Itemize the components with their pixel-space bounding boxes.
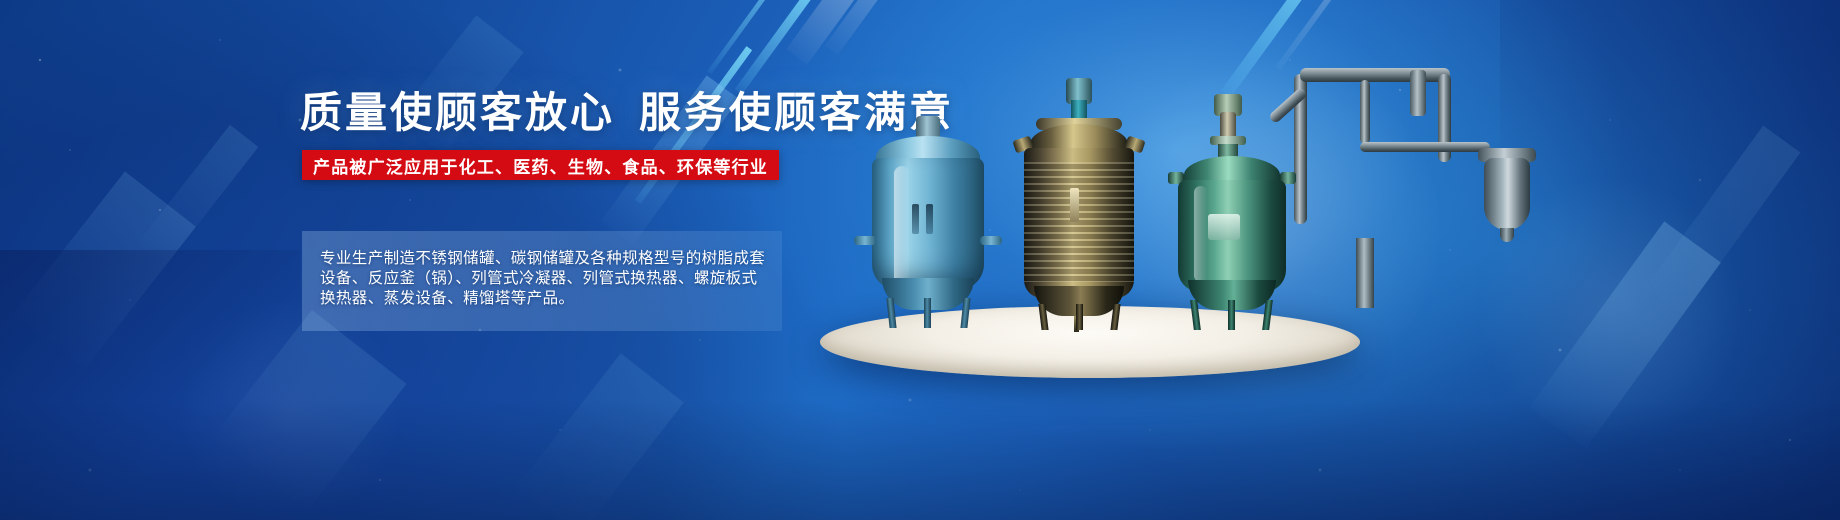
headline-part-1: 质量使顾客放心 (300, 89, 615, 136)
background-wedge-1 (0, 250, 300, 520)
pipe-assembly (1260, 60, 1560, 310)
kettle-b-leg-2 (1076, 304, 1083, 330)
condenser-outlet (1500, 228, 1514, 242)
bokeh-glow-3 (180, 300, 400, 520)
pipe-condenser-feed (1360, 80, 1370, 144)
tank-a-leg-2 (924, 298, 931, 328)
reactor-c-highlight (1194, 186, 1207, 282)
tank-a-highlight (894, 166, 910, 286)
description-line-3: 换热器、蒸发设备、精馏塔等产品。 (320, 289, 772, 309)
reactor-c-control-panel (1208, 214, 1240, 240)
kettle-b-jacket-coils (1024, 162, 1134, 282)
industry-tagline-banner: 产品被广泛应用于化工、医药、生物、食品、环保等行业 (302, 150, 779, 180)
light-streak-12 (138, 125, 259, 265)
pipe-cross-brace (1360, 142, 1490, 152)
jacketed-reaction-kettle (1016, 78, 1142, 330)
reactor-c-leg-2 (1228, 300, 1235, 330)
reactor-c-leg-3 (1262, 300, 1273, 330)
tube-condenser (1484, 158, 1530, 230)
reactor-c-column (1220, 112, 1236, 138)
promotional-banner: 质量使顾客放心服务使顾客满意 产品被广泛应用于化工、医药、生物、食品、环保等行业… (0, 0, 1840, 520)
tank-a-bracket-right (980, 236, 1002, 245)
small-accumulator-tank (1410, 70, 1426, 116)
pipe-horizontal-top (1300, 68, 1450, 82)
reactor-c-leg-1 (1190, 300, 1201, 330)
company-description: 专业生产制造不锈钢储罐、碳钢储罐及各种规格型号的树脂成套 设备、反应釜（锅）、列… (320, 249, 772, 309)
description-line-1: 专业生产制造不锈钢储罐、碳钢储罐及各种规格型号的树脂成套 (320, 249, 772, 269)
product-scene (760, 20, 1800, 420)
kettle-b-sight-glass (1070, 188, 1079, 222)
tank-a-bracket-left (854, 236, 876, 245)
tank-a-sight-glass-1 (912, 204, 919, 234)
industry-tagline-text: 产品被广泛应用于化工、医药、生物、食品、环保等行业 (313, 153, 768, 178)
enamel-reactor (1172, 94, 1292, 330)
light-streak-13 (213, 310, 406, 510)
stainless-steel-storage-tank (872, 116, 984, 322)
tank-a-sight-glass-2 (926, 204, 933, 234)
support-column (1356, 238, 1374, 308)
light-streak-15 (516, 353, 684, 520)
description-line-2: 设备、反应釜（锅）、列管式冷凝器、列管式换热器、螺旋板式 (320, 269, 772, 289)
light-streak-11 (14, 171, 196, 368)
